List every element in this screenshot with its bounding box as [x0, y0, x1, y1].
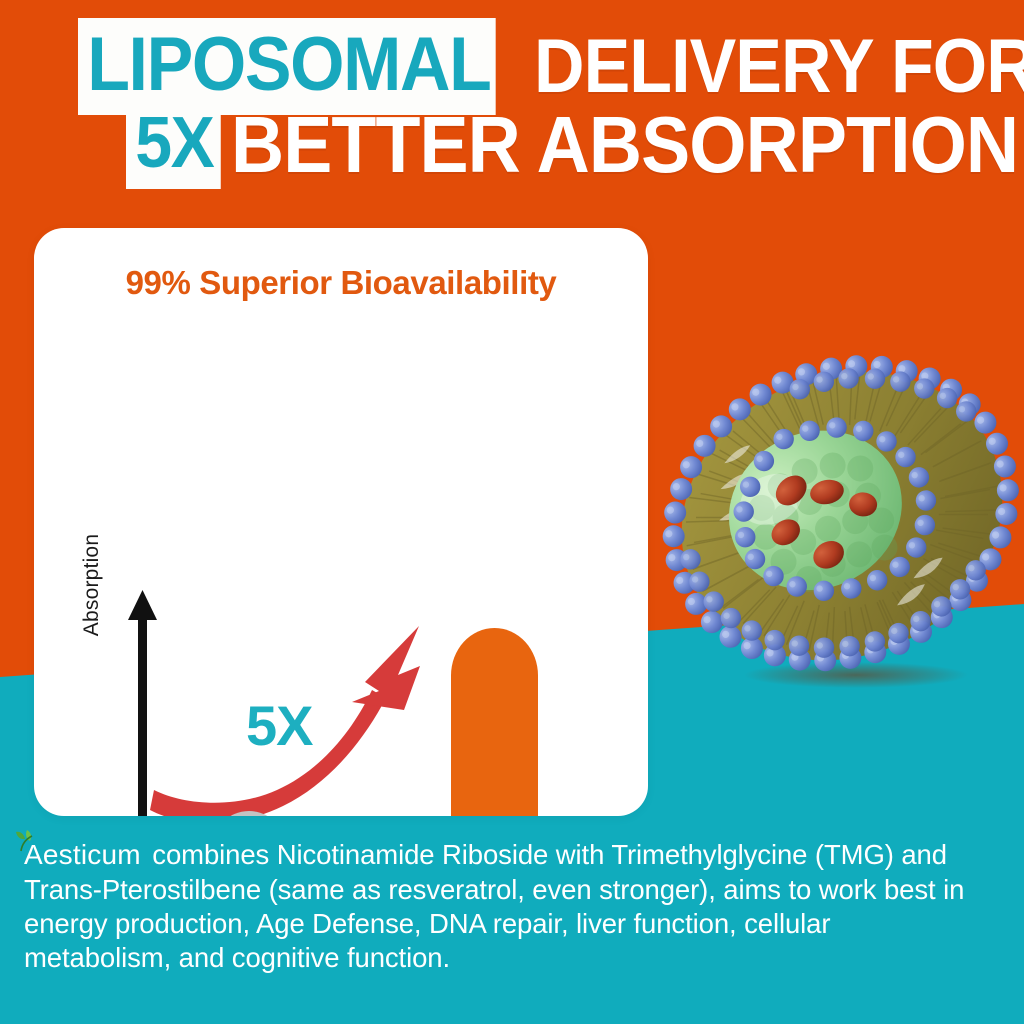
product-description: Aesticum combines Nicotinamide Riboside …: [24, 838, 984, 975]
y-axis: [128, 590, 157, 816]
headline-highlight-5x: 5X: [126, 100, 221, 189]
bioavailability-card: 99% Superior Bioavailability: [34, 228, 648, 816]
headline-plain-better-absorption: BETTER ABSORPTION: [231, 105, 1018, 185]
infographic-canvas: LIPOSOMAL DELIVERY FOR 5X BETTER ABSORPT…: [0, 0, 1024, 1024]
leaf-icon: [12, 829, 46, 855]
absorption-bar-chart: Absorption 5X Nicotinamide Riboside Lipo…: [34, 228, 648, 816]
y-axis-label: Absorption: [80, 515, 104, 655]
brand-logo: Aesticum: [24, 838, 141, 873]
multiplier-label: 5X: [246, 693, 313, 758]
headline-line-2: 5X BETTER ABSORPTION: [126, 100, 1024, 189]
bar-liposomal-nicotinamide-riboside: [451, 628, 538, 816]
headline-plain-delivery-for: DELIVERY FOR: [534, 29, 1024, 105]
description-text: combines Nicotinamide Riboside with Trim…: [24, 839, 964, 973]
liposome-illustration: [660, 330, 1024, 710]
headline-block: LIPOSOMAL DELIVERY FOR 5X BETTER ABSORPT…: [0, 0, 1024, 200]
